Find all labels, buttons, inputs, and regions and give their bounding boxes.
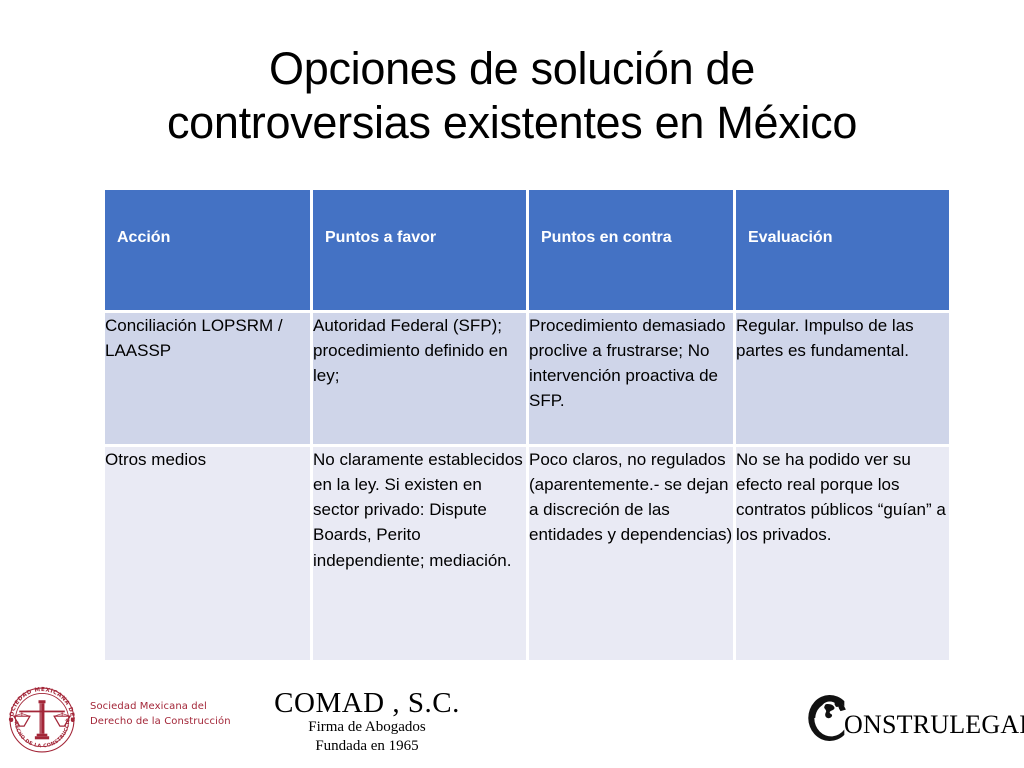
page-title-line-2: controversias existentes en México bbox=[40, 96, 984, 150]
cell-accion: Otros medios bbox=[105, 447, 310, 660]
footer-logo-bar: SOCIEDAD MEXICANA DEL DERECHO DE LA CONS… bbox=[0, 680, 1024, 768]
logo-sociedad-mexicana: SOCIEDAD MEXICANA DEL DERECHO DE LA CONS… bbox=[4, 682, 234, 758]
cell-puntos-en-contra: Procedimiento demasiado proclive a frust… bbox=[529, 313, 733, 444]
comparison-table: Acción Puntos a favor Puntos en contra E… bbox=[102, 187, 952, 663]
scales-of-justice-seal-icon: SOCIEDAD MEXICANA DEL DERECHO DE LA CONS… bbox=[4, 682, 80, 758]
logo-sociedad-mexicana-line-2: Derecho de la Construcción bbox=[90, 715, 231, 730]
page-title-line-1: Opciones de solución de bbox=[40, 42, 984, 96]
page-title: Opciones de solución de controversias ex… bbox=[40, 42, 984, 150]
column-header-puntos-en-contra: Puntos en contra bbox=[529, 190, 733, 310]
cell-evaluacion: Regular. Impulso de las partes es fundam… bbox=[736, 313, 949, 444]
logo-sociedad-mexicana-wordmark: Sociedad Mexicana del Derecho de la Cons… bbox=[90, 700, 231, 729]
logo-construlegal-wordmark: ONSTRULEGAL bbox=[844, 710, 1024, 740]
column-header-puntos-a-favor: Puntos a favor bbox=[313, 190, 526, 310]
logo-comad: COMAD , S.C. Firma de Abogados Fundada e… bbox=[236, 688, 498, 756]
cell-accion: Conciliación LOPSRM / LAASSP bbox=[105, 313, 310, 444]
comparison-table-container: Acción Puntos a favor Puntos en contra E… bbox=[105, 190, 940, 660]
logo-sociedad-mexicana-line-1: Sociedad Mexicana del bbox=[90, 700, 231, 715]
column-header-evaluacion: Evaluación bbox=[736, 190, 949, 310]
column-header-accion: Acción bbox=[105, 190, 310, 310]
slide-canvas: { "slide": { "title_lines": [ "Opciones … bbox=[0, 0, 1024, 768]
table-header-row: Acción Puntos a favor Puntos en contra E… bbox=[105, 190, 949, 310]
cell-evaluacion: No se ha podido ver su efecto real porqu… bbox=[736, 447, 949, 660]
cell-puntos-en-contra: Poco claros, no regulados (aparentemente… bbox=[529, 447, 733, 660]
logo-comad-name: COMAD , S.C. bbox=[236, 688, 498, 718]
logo-construlegal: ONSTRULEGAL bbox=[806, 694, 1016, 750]
table-header: Acción Puntos a favor Puntos en contra E… bbox=[105, 190, 949, 310]
cell-puntos-a-favor: Autoridad Federal (SFP); procedimiento d… bbox=[313, 313, 526, 444]
logo-comad-subtitle-2: Fundada en 1965 bbox=[236, 737, 498, 756]
table-body: Conciliación LOPSRM / LAASSP Autoridad F… bbox=[105, 313, 949, 660]
table-row: Otros medios No claramente establecidos … bbox=[105, 447, 949, 660]
logo-comad-subtitle-1: Firma de Abogados bbox=[236, 718, 498, 737]
cell-puntos-a-favor: No claramente establecidos en la ley. Si… bbox=[313, 447, 526, 660]
table-row: Conciliación LOPSRM / LAASSP Autoridad F… bbox=[105, 313, 949, 444]
